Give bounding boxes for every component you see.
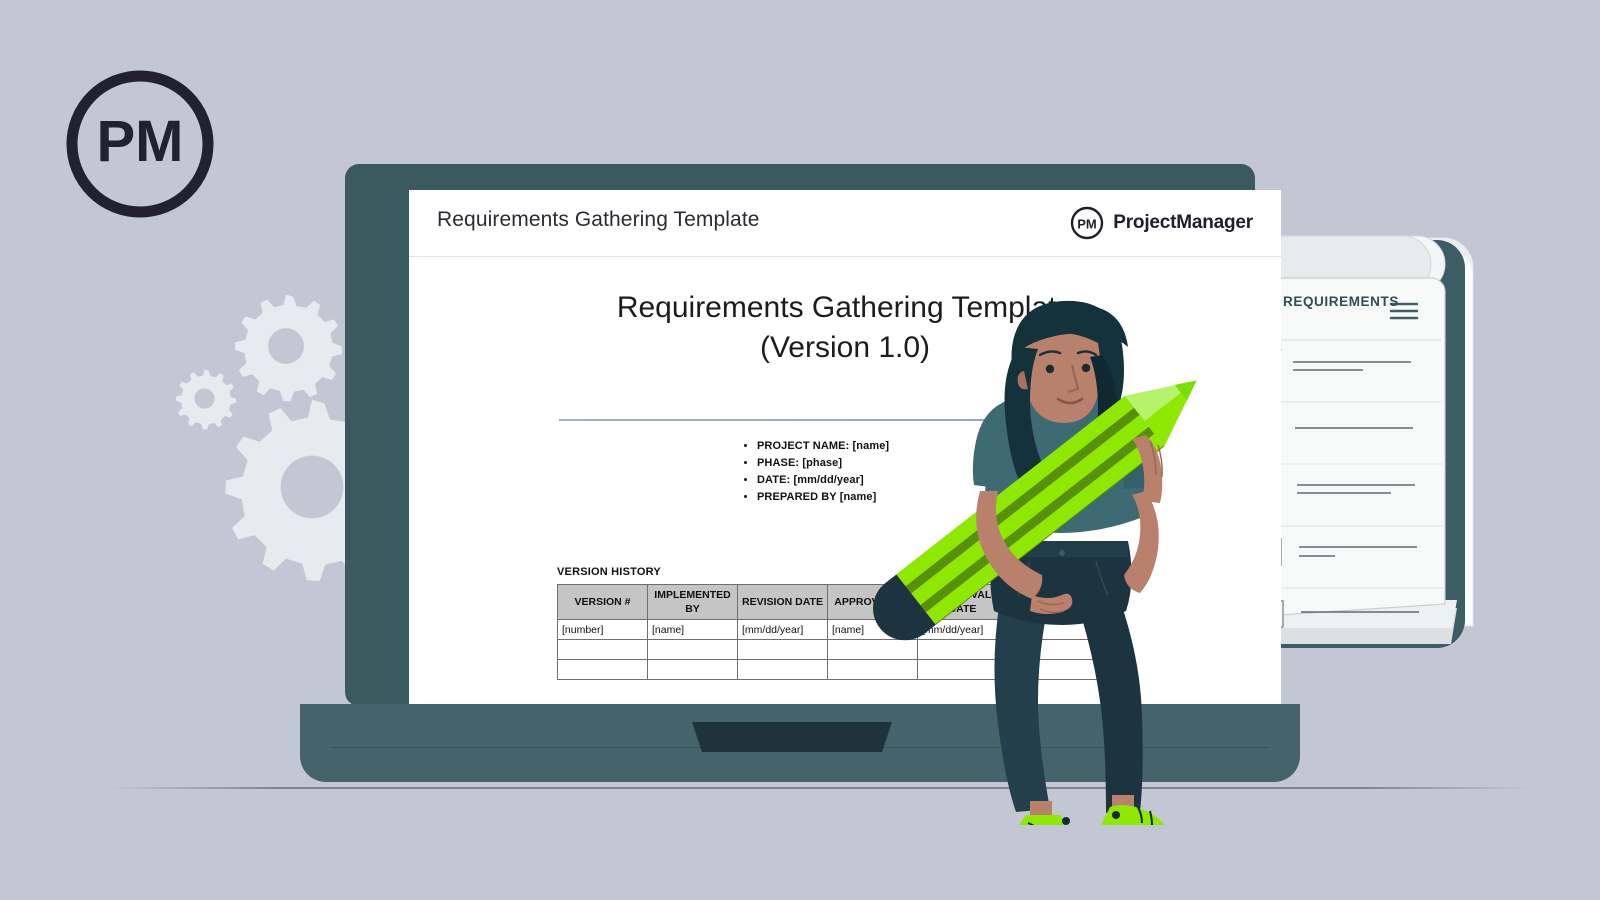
table-cell xyxy=(558,660,648,680)
table-cell: [number] xyxy=(558,620,648,640)
table-cell xyxy=(738,660,828,680)
clipboard-title: REQUIREMENTS xyxy=(1283,294,1399,309)
document-header-title: Requirements Gathering Template xyxy=(437,208,760,232)
scene: PM xyxy=(0,0,1600,900)
ground-line xyxy=(110,787,1530,789)
projectmanager-brand: PM ProjectManager xyxy=(1070,206,1253,240)
table-cell: [mm/dd/year] xyxy=(738,620,828,640)
table-cell xyxy=(558,640,648,660)
svg-text:PM: PM xyxy=(97,109,184,174)
illustration-woman-with-pencil xyxy=(860,295,1240,825)
pm-mark-icon: PM xyxy=(1070,206,1104,240)
version-history-label: VERSION HISTORY xyxy=(557,566,661,578)
brand-name: ProjectManager xyxy=(1113,212,1253,234)
table-cell xyxy=(738,640,828,660)
column-header: REVISION DATE xyxy=(738,585,828,620)
document-header: Requirements Gathering Template PM Proje… xyxy=(409,190,1281,257)
svg-text:PM: PM xyxy=(1078,217,1098,232)
table-cell xyxy=(648,660,738,680)
pm-logo: PM xyxy=(64,68,216,220)
table-cell: [name] xyxy=(648,620,738,640)
table-cell xyxy=(648,640,738,660)
column-header: VERSION # xyxy=(558,585,648,620)
column-header: IMPLEMENTED BY xyxy=(648,585,738,620)
